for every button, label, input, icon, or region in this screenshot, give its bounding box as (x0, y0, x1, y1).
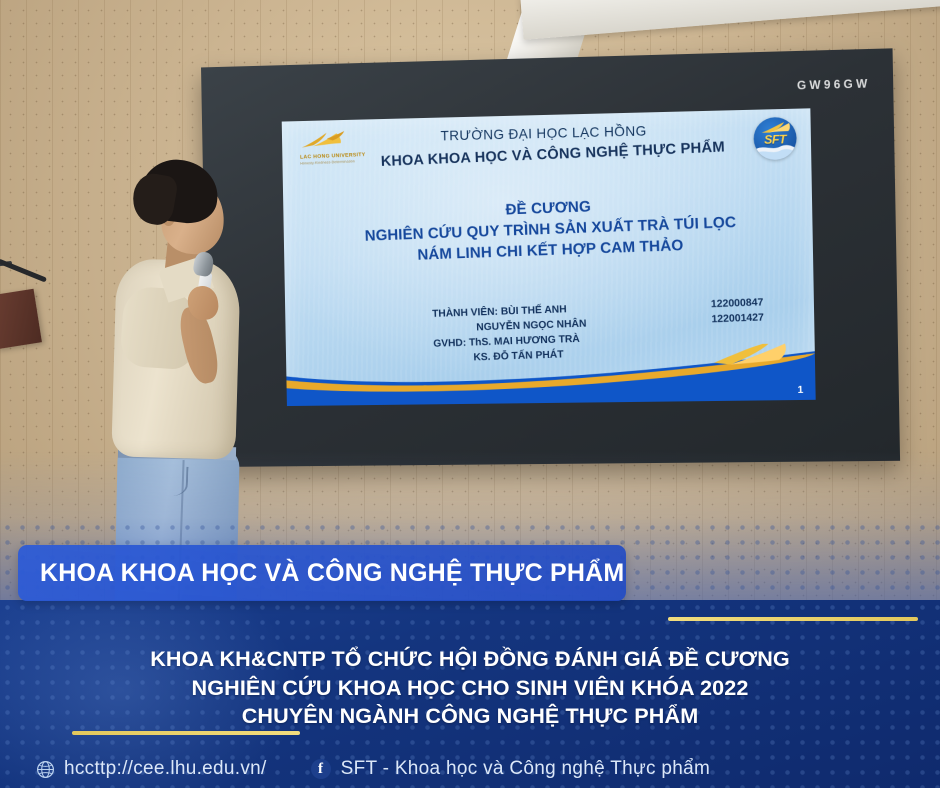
gold-divider-right (668, 617, 918, 621)
headline-line-2: NGHIÊN CỨU KHOA HỌC CHO SINH VIÊN KHÓA 2… (0, 674, 940, 703)
social-media-poster: GW96GW LAC HONG UNIVERSITY Honesty-Kindn… (0, 0, 940, 788)
event-photo: GW96GW LAC HONG UNIVERSITY Honesty-Kindn… (0, 0, 940, 600)
event-headline: KHOA KH&CNTP TỔ CHỨC HỘI ĐỒNG ĐÁNH GIÁ Đ… (0, 645, 940, 731)
presentation-slide: LAC HONG UNIVERSITY Honesty-Kindness-Det… (282, 108, 816, 406)
slide-title: ĐỀ CƯƠNG NGHIÊN CỨU QUY TRÌNH SẢN XUẤT T… (287, 189, 816, 272)
slide-page-number: 1 (797, 385, 803, 396)
headline-line-3: CHUYÊN NGÀNH CÔNG NGHỆ THỰC PHẨM (0, 702, 940, 731)
headline-line-1: KHOA KH&CNTP TỔ CHỨC HỘI ĐỒNG ĐÁNH GIÁ Đ… (0, 645, 940, 674)
screen-watermark: GW96GW (797, 78, 871, 92)
gold-divider-left (72, 731, 300, 735)
website-link[interactable]: hccttp://cee.lhu.edu.vn/ (36, 758, 267, 780)
slide-footer-band: 1 (286, 343, 816, 406)
footer-links: hccttp://cee.lhu.edu.vn/ f SFT - Khoa họ… (0, 750, 940, 788)
faculty-banner-label: KHOA KHOA HỌC VÀ CÔNG NGHỆ THỰC PHẨM (18, 559, 624, 588)
facebook-link[interactable]: f SFT - Khoa học và Công nghệ Thực phẩm (311, 758, 711, 780)
slide-footer-artwork (286, 343, 816, 406)
facebook-icon: f (311, 759, 331, 779)
globe-icon (36, 760, 55, 779)
website-url: hccttp://cee.lhu.edu.vn/ (64, 758, 267, 780)
facebook-page-name: SFT - Khoa học và Công nghệ Thực phẩm (341, 758, 711, 780)
faculty-banner: KHOA KHOA HỌC VÀ CÔNG NGHỆ THỰC PHẨM (18, 545, 626, 601)
participant-id (764, 326, 765, 341)
participant-id: 122001427 (711, 311, 764, 328)
display-screen: GW96GW LAC HONG UNIVERSITY Honesty-Kindn… (201, 48, 900, 467)
